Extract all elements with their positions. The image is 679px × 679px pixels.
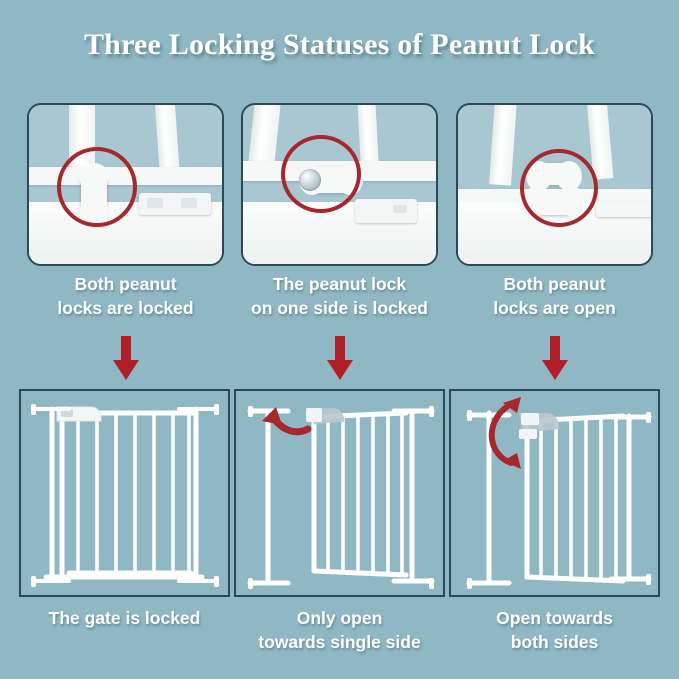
red-highlight-circle — [520, 149, 598, 227]
red-highlight-circle — [281, 135, 361, 213]
gate-post-right — [357, 103, 378, 165]
photo-both-open-image — [458, 105, 651, 264]
arrow-head — [113, 360, 139, 380]
photo-card-both-open — [456, 103, 653, 266]
gate-row — [0, 389, 679, 597]
arrow-shaft — [550, 336, 560, 362]
arrow-head — [542, 360, 568, 380]
gate-card-both-sides — [449, 389, 660, 597]
arrow-down-icon-center — [327, 336, 353, 380]
photo-card-one-side-locked — [241, 103, 438, 266]
arrow-shaft — [335, 336, 345, 362]
infographic-page: Three Locking Statuses of Peanut Lock — [0, 0, 679, 679]
photo-caption-one-side-locked: The peanut lock on one side is locked — [236, 272, 443, 320]
gate-single-side-diagram — [236, 391, 443, 595]
red-highlight-circle — [57, 147, 137, 227]
arrow-down-icon-left — [113, 336, 139, 380]
gate-caption-row: The gate is locked Only open towards sin… — [0, 606, 679, 662]
gate-both-sides-diagram — [451, 391, 658, 595]
arrow-row — [0, 336, 679, 382]
arrow-down-icon-right — [542, 336, 568, 380]
photo-caption-both-locked: Both peanut locks are locked — [22, 272, 229, 320]
page-title: Three Locking Statuses of Peanut Lock — [0, 28, 679, 62]
latch-plate — [355, 199, 417, 223]
arrow-shaft — [121, 336, 131, 362]
photo-both-locked-image — [29, 105, 222, 264]
gate-post-right — [155, 103, 180, 170]
gate-caption-both-sides: Open towards both sides — [446, 606, 663, 654]
gate-card-locked — [19, 389, 230, 597]
latch-plate — [596, 201, 653, 217]
latch-slot-b — [181, 198, 197, 208]
photo-one-side-locked-image — [243, 105, 436, 264]
latch-slot-a — [393, 205, 407, 213]
gate-card-single-side — [234, 389, 445, 597]
photo-card-both-locked — [27, 103, 224, 266]
gate-locked-diagram — [21, 391, 228, 595]
photo-caption-both-open: Both peanut locks are open — [451, 272, 658, 320]
gate-caption-locked: The gate is locked — [16, 606, 233, 630]
photo-caption-row: Both peanut locks are locked The peanut … — [0, 272, 679, 326]
gate-caption-single-side: Only open towards single side — [231, 606, 448, 654]
latch-slot-a — [147, 198, 163, 208]
gate-post-left — [489, 103, 517, 186]
photo-row — [0, 103, 679, 266]
arrow-head — [327, 360, 353, 380]
